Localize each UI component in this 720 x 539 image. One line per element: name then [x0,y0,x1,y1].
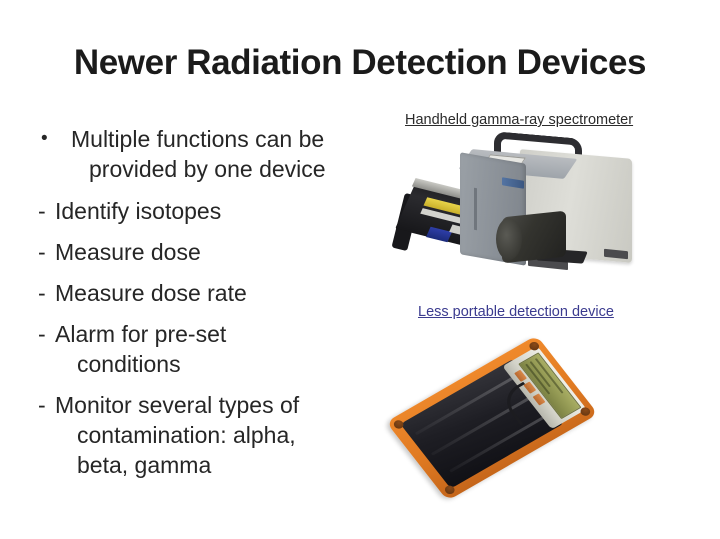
handheld-gamma-ray-spectrometer-image [398,132,683,292]
list-item-line: Multiple functions can be [71,126,324,152]
bullet-dot-icon: • [36,124,71,154]
spectrometer-front-seam [474,188,477,230]
list-item: - Monitor several types of contamination… [36,390,366,480]
list-item-line: Monitor several types of [55,392,299,418]
list-item-line: contamination: alpha, [55,420,366,450]
slide-canvas: Newer Radiation Detection Devices • Mult… [0,0,720,539]
list-item-text: Alarm for pre-set conditions [53,319,366,379]
list-item-text: Identify isotopes [53,196,366,226]
list-item: - Measure dose rate [36,278,366,308]
list-item-line: provided by one device [71,154,366,184]
less-portable-detection-device-image [418,330,668,498]
list-item: - Identify isotopes [36,196,366,226]
list-item-line: beta, gamma [55,450,366,480]
bullet-dash-icon: - [36,319,53,349]
list-item: - Alarm for pre-set conditions [36,319,366,379]
bullet-dash-icon: - [36,390,53,420]
list-item-text: Measure dose [53,237,366,267]
list-item-line: conditions [55,349,366,379]
list-item-text: Measure dose rate [53,278,366,308]
bullet-dash-icon: - [36,278,53,308]
portable-device-group [386,335,598,501]
caption-less-portable-detection-device[interactable]: Less portable detection device [418,304,614,320]
bullet-dash-icon: - [36,196,53,226]
spectrometer-detector-face [496,218,522,260]
list-item-line: Alarm for pre-set [55,321,226,347]
bullet-dash-icon: - [36,237,53,267]
list-item: • Multiple functions can be provided by … [36,124,366,184]
bullet-list: • Multiple functions can be provided by … [36,124,366,491]
list-item-text: Monitor several types of contamination: … [53,390,366,480]
list-item: - Measure dose [36,237,366,267]
page-title: Newer Radiation Detection Devices [0,43,720,83]
caption-handheld-gamma-ray-spectrometer: Handheld gamma-ray spectrometer [405,112,633,128]
list-item-text: Multiple functions can be provided by on… [71,124,366,184]
